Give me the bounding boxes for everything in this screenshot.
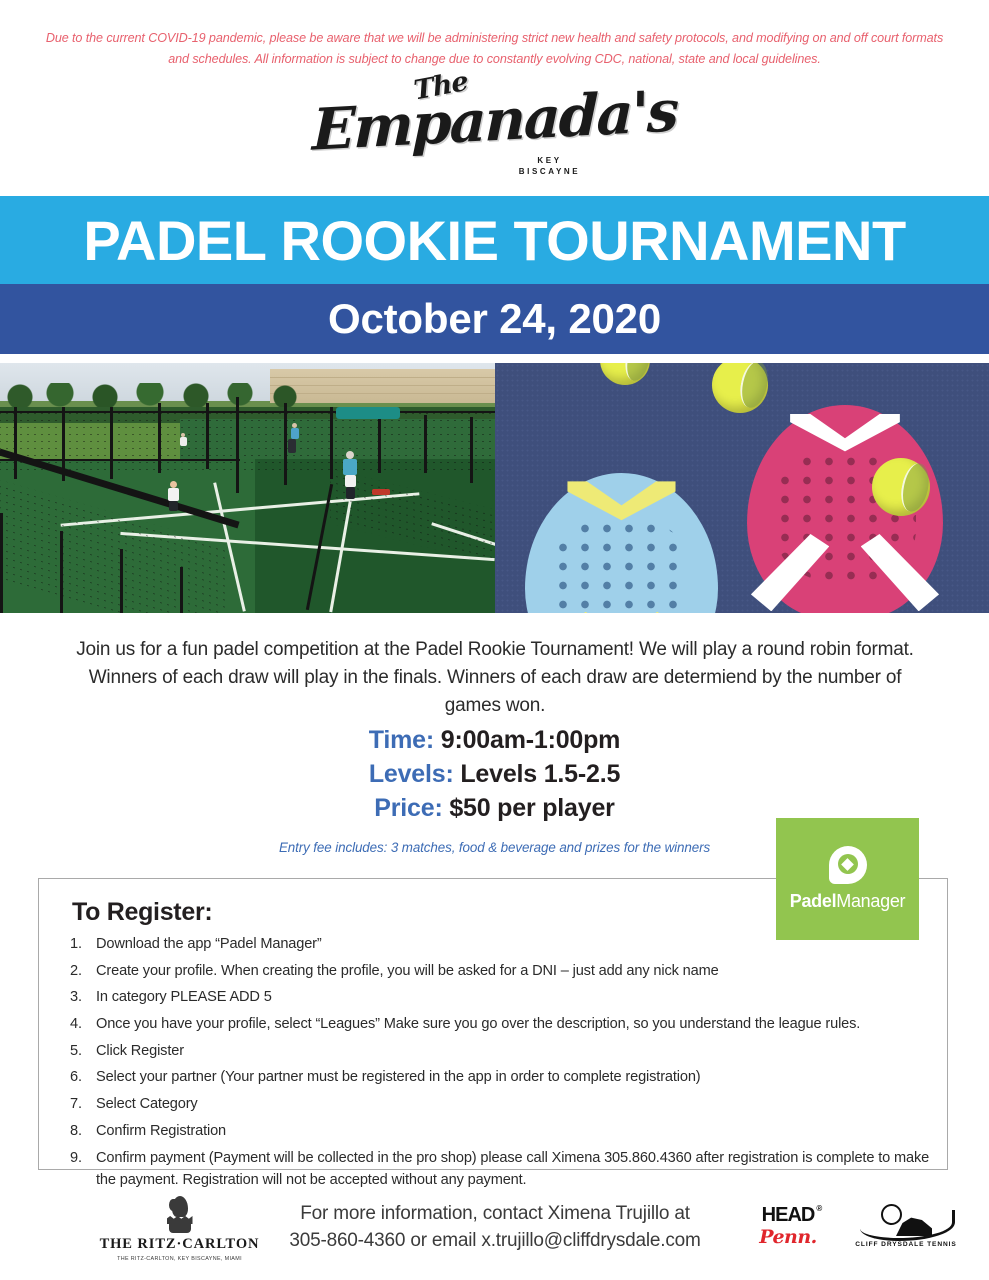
register-step: 7. Select Category [62, 1093, 942, 1116]
step-text: Click Register [96, 1040, 942, 1063]
step-number: 8. [62, 1120, 96, 1143]
step-text: Once you have your profile, select “Leag… [96, 1013, 942, 1036]
padel-courts-photo [0, 363, 495, 613]
head-text: HEAD [762, 1204, 815, 1226]
contact-line-2: 305-860-4360 or email x.trujillo@cliffdr… [270, 1227, 720, 1254]
detail-value-price: $50 per player [449, 794, 614, 822]
intro-paragraph: Join us for a fun padel competition at t… [75, 636, 915, 720]
head-penn-logo: HEAD® Penn. [742, 1204, 834, 1248]
fence-mesh [0, 407, 495, 473]
page-title: PADEL ROOKIE TOURNAMENT [83, 208, 905, 273]
empanadas-location-line1: KEY [519, 155, 580, 166]
register-step: 5. Click Register [62, 1040, 942, 1063]
padel-manager-logo: PadelManager [776, 818, 919, 940]
cliff-drysdale-logo: CLIFF DRYSDALE TENNIS [852, 1204, 960, 1248]
court-umbrella [336, 407, 400, 419]
step-number: 1. [62, 933, 96, 956]
step-number: 6. [62, 1066, 96, 1089]
step-text: Create your profile. When creating the p… [96, 960, 942, 983]
step-text: Select Category [96, 1093, 942, 1116]
step-number: 2. [62, 960, 96, 983]
ritz-carlton-logo: THE RITZ·CARLTON THE RITZ-CARLTON, KEY B… [92, 1196, 267, 1262]
court-bag [372, 489, 390, 495]
padel-manager-name-bold: Padel [790, 891, 837, 911]
step-text: Confirm payment (Payment will be collect… [96, 1147, 942, 1192]
empanadas-location-line2: BISCAYNE [519, 166, 580, 177]
tennis-player-icon [860, 1204, 952, 1240]
padel-manager-icon [829, 846, 867, 884]
tennis-ball [872, 458, 930, 516]
ritz-lion-crest-icon [165, 1196, 195, 1234]
register-heading: To Register: [72, 898, 212, 927]
covid-notice: Due to the current COVID-19 pandemic, pl… [0, 28, 989, 70]
head-wordmark: HEAD® [762, 1204, 815, 1227]
empanadas-wordmark: The Empanada's [312, 82, 678, 158]
ritz-carlton-name: THE RITZ·CARLTON [92, 1236, 267, 1253]
register-step: 8. Confirm Registration [62, 1120, 942, 1143]
padel-manager-name-light: Manager [836, 891, 905, 911]
detail-label-levels: Levels: [369, 760, 454, 788]
register-step: 2. Create your profile. When creating th… [62, 960, 942, 983]
step-text: In category PLEASE ADD 5 [96, 986, 942, 1009]
step-number: 7. [62, 1093, 96, 1116]
step-text: Select your partner (Your partner must b… [96, 1066, 942, 1089]
empanadas-name-text: Empanada's [312, 77, 678, 163]
head-registered-icon: ® [816, 1204, 821, 1213]
padel-manager-wordmark: PadelManager [790, 891, 905, 912]
empanadas-logo: The Empanada's KEY BISCAYNE [0, 82, 989, 187]
event-details: Time: 9:00am-1:00pm Levels: Levels 1.5-2… [0, 723, 989, 825]
empanadas-location: KEY BISCAYNE [519, 155, 580, 177]
detail-value-time: 9:00am-1:00pm [441, 726, 620, 754]
flyer-page: Due to the current COVID-19 pandemic, pl… [0, 0, 989, 1280]
register-step: 3. In category PLEASE ADD 5 [62, 986, 942, 1009]
padel-rackets-photo [495, 363, 989, 613]
cliff-drysdale-name: CLIFF DRYSDALE TENNIS [852, 1241, 960, 1248]
title-band: PADEL ROOKIE TOURNAMENT [0, 196, 989, 284]
register-step: 9. Confirm payment (Payment will be coll… [62, 1147, 942, 1192]
contact-line-1: For more information, contact Ximena Tru… [270, 1200, 720, 1227]
detail-label-time: Time: [369, 726, 434, 754]
event-date: October 24, 2020 [328, 295, 661, 343]
detail-row-levels: Levels: Levels 1.5-2.5 [0, 757, 989, 791]
date-band: October 24, 2020 [0, 284, 989, 354]
step-text: Confirm Registration [96, 1120, 942, 1143]
register-step: 4. Once you have your profile, select “L… [62, 1013, 942, 1036]
photo-band [0, 363, 989, 613]
detail-label-price: Price: [374, 794, 442, 822]
sponsor-logos: HEAD® Penn. CLIFF DRYSDALE TENNIS [742, 1196, 972, 1256]
register-steps-list: 1. Download the app “Padel Manager” 2. C… [62, 933, 942, 1196]
step-number: 5. [62, 1040, 96, 1063]
step-number: 9. [62, 1147, 96, 1192]
penn-wordmark: Penn. [742, 1226, 834, 1248]
register-step: 6. Select your partner (Your partner mus… [62, 1066, 942, 1089]
step-number: 3. [62, 986, 96, 1009]
ritz-carlton-property: THE RITZ-CARLTON, KEY BISCAYNE, MIAMI [92, 1256, 267, 1262]
detail-value-levels: Levels 1.5-2.5 [460, 760, 620, 788]
step-number: 4. [62, 1013, 96, 1036]
contact-info: For more information, contact Ximena Tru… [270, 1200, 720, 1254]
detail-row-time: Time: 9:00am-1:00pm [0, 723, 989, 757]
